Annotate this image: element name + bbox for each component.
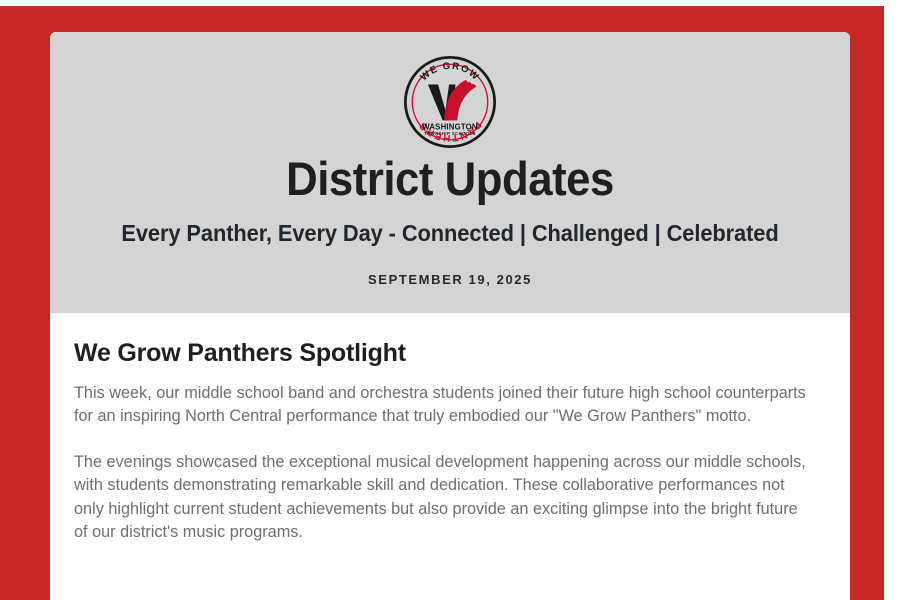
newsletter-body: We Grow Panthers Spotlight This week, ou… xyxy=(50,313,850,565)
newsletter-header: WE GROW PANTHERS WASHINGTON TOWNSHIP SCH… xyxy=(50,32,850,313)
page-title: District Updates xyxy=(106,154,794,203)
email-viewport: WE GROW PANTHERS WASHINGTON TOWNSHIP SCH… xyxy=(0,0,900,600)
issue-date: SEPTEMBER 19, 2025 xyxy=(80,272,820,287)
logo-wordmark-line1: WASHINGTON xyxy=(422,123,478,132)
washington-township-schools-panthers-logo-icon: WE GROW PANTHERS WASHINGTON TOWNSHIP SCH… xyxy=(404,56,496,148)
logo-monogram xyxy=(428,80,477,120)
tagline: Every Panther, Every Day - Connected | C… xyxy=(99,217,802,250)
logo-container: WE GROW PANTHERS WASHINGTON TOWNSHIP SCH… xyxy=(80,54,820,150)
scrollbar-gutter[interactable] xyxy=(884,0,900,600)
logo-wordmark-line2: TOWNSHIP SCHOOLS xyxy=(424,131,476,136)
body-paragraph: The evenings showcased the exceptional m… xyxy=(74,451,815,545)
newsletter-card: WE GROW PANTHERS WASHINGTON TOWNSHIP SCH… xyxy=(50,32,850,600)
section-title: We Grow Panthers Spotlight xyxy=(74,339,826,368)
body-paragraph: This week, our middle school band and or… xyxy=(74,382,815,429)
